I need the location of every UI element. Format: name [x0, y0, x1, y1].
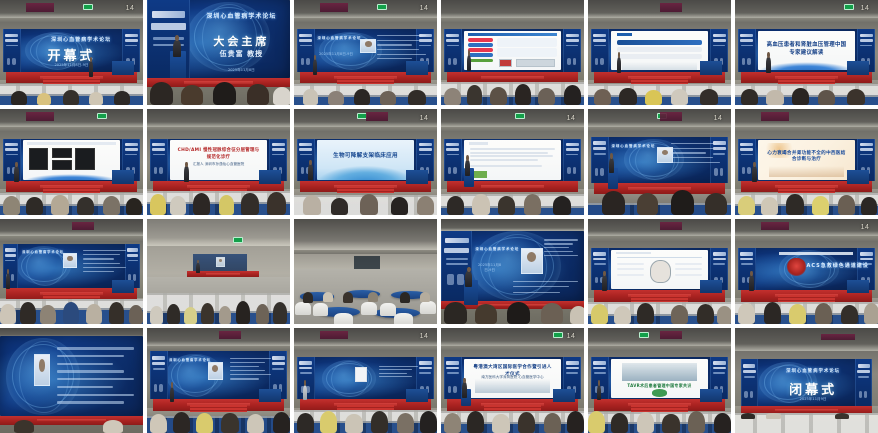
hall-sign	[660, 112, 683, 120]
hall-sign	[26, 112, 55, 120]
led-forum-title: 深圳心血管病学术论坛	[611, 143, 648, 148]
hall-number: 14	[126, 5, 135, 12]
photo-thumbnail[interactable]: 深圳心血管病学术论坛 Chairperson biography on LED …	[0, 219, 143, 324]
led-forum-title: 深圳心血管病学术论坛	[475, 246, 504, 251]
photo-thumbnail[interactable]: 14 ACS急救绿色通道建设 ACS emergency pathway sli…	[735, 219, 878, 324]
photo-thumbnail[interactable]: 目录 Agenda / contents slide	[588, 0, 731, 105]
ceiling	[0, 0, 143, 18]
presenter	[308, 164, 313, 180]
audience	[735, 71, 878, 106]
exit-sign-icon	[553, 332, 563, 338]
led-date: 2025年11月8日-9日	[22, 63, 121, 68]
photo-thumbnail[interactable]: Full-frame LED wall with speaker biograp…	[0, 328, 143, 433]
hall-number: 14	[567, 333, 576, 340]
led-side-panel-left	[3, 29, 21, 71]
photo-thumbnail[interactable]: 深圳心血管病学术论坛 大会主席 伍贵富 教授 2025年11月8日 Confer…	[147, 0, 290, 105]
audience	[294, 187, 437, 214]
hall-sign	[761, 222, 790, 230]
hall-sign	[761, 112, 790, 120]
blank-slide-panel	[355, 367, 367, 381]
speaker-portrait	[521, 248, 542, 274]
audience	[0, 71, 143, 106]
audience	[441, 65, 584, 105]
audience	[441, 183, 584, 215]
hall-sign	[219, 331, 242, 339]
photo-thumbnail[interactable]: CHD/AMI 慢性冠脉综合征分层管理与规范化诊疗 汇报人 深圳市孙逸仙心血管医…	[147, 109, 290, 214]
audience	[147, 172, 290, 214]
speaker-bio	[544, 239, 578, 274]
hall-sign	[320, 331, 349, 339]
presenter	[465, 271, 472, 287]
speaker-portrait	[360, 39, 376, 53]
presenter	[173, 40, 182, 57]
hall-sign	[320, 3, 349, 11]
exit-sign-icon	[639, 332, 649, 338]
led-forum-title: 深圳心血管病学术论坛	[169, 357, 205, 362]
speaker-portrait	[208, 362, 223, 380]
audience	[294, 393, 437, 433]
audience	[147, 399, 290, 433]
led-forum-title: 深圳心血管病学术论坛	[198, 11, 284, 20]
led-backdrop: 深圳心血管病学术论坛 闭幕式 2025年11月9日	[741, 359, 873, 405]
audience	[0, 418, 143, 433]
led-date: 2025年11月8日-9日	[317, 52, 354, 57]
exit-sign-icon	[97, 113, 107, 119]
hall-number: 14	[420, 5, 429, 12]
led-date: 2025年11月8日-9日	[475, 263, 504, 273]
hall-number: 14	[567, 115, 576, 122]
audience	[588, 395, 731, 433]
audience	[441, 301, 584, 324]
photo-thumbnail[interactable]: 14 生物可降解支架临床应用 Bioresorbable scaffold cl…	[294, 109, 437, 214]
slide-title: 生物可降解支架临床应用	[325, 152, 407, 160]
audience	[294, 71, 437, 106]
audience	[588, 71, 731, 106]
led-forum-title: 深圳心血管病学术论坛	[22, 249, 58, 254]
presentation-slide: 心脏解剖结构示意	[611, 250, 709, 289]
led-date: 2025年11月8日	[198, 68, 284, 73]
slide-title: ACS急救绿色通道建设	[807, 262, 856, 269]
photo-thumbnail[interactable]: 深圳心血管病学术论坛 闭幕式 2025年11月9日 Closing ceremo…	[735, 328, 878, 433]
led-forum-title: 深圳心血管病学术论坛	[36, 36, 127, 43]
hall-number: 14	[861, 224, 870, 231]
led-backdrop	[0, 336, 143, 416]
exit-sign-icon	[515, 113, 525, 119]
photo-thumbnail[interactable]: 14 深圳心血管病学术论坛 2025年11月8日-9日 Speaker intr…	[294, 0, 437, 105]
photo-thumbnail[interactable]: 影像学评估 Angiography images on slide	[0, 109, 143, 214]
speaker-bio	[57, 347, 134, 405]
speaker-bio	[377, 35, 426, 63]
slide-text-lines	[379, 366, 417, 388]
hall-sign	[660, 3, 683, 11]
exit-sign-icon	[83, 4, 93, 10]
hall-sign	[72, 222, 95, 230]
audience	[735, 410, 878, 433]
led-headline: 闭幕式	[772, 379, 854, 398]
speaker-portrait	[216, 257, 226, 267]
photo-thumbnail[interactable]: Round-table session, overview of hall	[294, 219, 437, 324]
hall-sign	[660, 331, 683, 339]
audience	[0, 277, 143, 323]
head-table	[406, 170, 429, 184]
photo-thumbnail[interactable]: 深圳心血管病学术论坛 2025年11月8日-9日 Speaker portrai…	[441, 219, 584, 324]
speaker-bio	[671, 143, 720, 174]
truss	[0, 18, 143, 23]
presentation-slide: TAVR术后患者管理中国专家共识	[611, 359, 709, 398]
slide-subtitle: 汇报人 深圳市孙逸仙心血管医院	[180, 162, 258, 167]
hall-number: 14	[420, 333, 429, 340]
led-forum-title: 深圳心血管病学术论坛	[317, 35, 354, 40]
photo-grid: 14 深圳心血管病学术论坛 开幕式 2025年11月8日-9日	[0, 0, 878, 433]
hall-number: 14	[861, 5, 870, 12]
presentation-slide: 心力衰竭合并肾功能不全的中西医结合诊断与治疗	[758, 140, 856, 179]
photo-thumbnail[interactable]: 14 临床研究要点 Bulleted t	[441, 109, 584, 214]
presentation-slide: 临床研究要点	[464, 140, 562, 179]
photo-thumbnail[interactable]: 14 高血压患者和肾脏血压管理中国专家建议解读 Hypertension gui…	[735, 0, 878, 105]
hall-sign	[366, 112, 389, 120]
photo-thumbnail[interactable]: 心血管疾病诊疗数据平台 Data dashboard slide present…	[441, 0, 584, 105]
photo-thumbnail[interactable]: 14 粤港澳大湾区国际医学合作暨引进人才仪式 南方医科大学深圳医院 心血管医学中…	[441, 328, 584, 433]
photo-thumbnail[interactable]: 心力衰竭合并肾功能不全的中西医结合诊断与治疗 Heart failure wit…	[735, 109, 878, 214]
photo-thumbnail[interactable]: 14 深圳心血管病学术论坛 Speaker at podium, LED por…	[588, 109, 731, 214]
presenter	[465, 160, 470, 176]
speaker-bio	[230, 358, 271, 390]
speaker-bio	[83, 250, 127, 279]
slide-title: 高血压患者和肾脏血压管理中国专家建议解读	[766, 42, 848, 58]
led-chair-name: 伍贵富 教授	[198, 49, 284, 59]
photo-thumbnail[interactable]: TAVR术后患者管理中国专家共识 TAVR post-op management…	[588, 328, 731, 433]
audience	[0, 177, 143, 215]
slide-title: TAVR术后患者管理中国专家共识	[619, 383, 701, 389]
hall-number: 14	[420, 115, 429, 122]
audience	[588, 288, 731, 324]
led-headline: 大会主席	[198, 33, 284, 49]
round-tables	[294, 273, 437, 324]
photo-thumbnail[interactable]: 深圳心血管病学术论坛 Speaker profile on LED wall, …	[147, 328, 290, 433]
presenter	[196, 263, 201, 274]
hall-sign	[660, 222, 683, 230]
led-backdrop: 深圳心血管病学术论坛 2025年11月8日-9日	[441, 231, 584, 300]
hall-sign	[821, 334, 855, 340]
speaker-bio-extra	[513, 281, 579, 296]
photo-thumbnail[interactable]: 心脏解剖结构示意 Cardiac anatomy diagram slide	[588, 219, 731, 324]
slide-title: 心力衰竭合并肾功能不全的中西医结合诊断与治疗	[766, 151, 848, 164]
projection-screen	[354, 256, 380, 269]
audience	[735, 177, 878, 215]
exit-sign-icon	[377, 4, 387, 10]
led-headline: 开幕式	[22, 45, 121, 64]
presentation-slide: 粤港澳大湾区国际医学合作暨引进人才仪式 南方医科大学深圳医院 心血管医学中心	[464, 359, 562, 398]
presentation-slide: 生物可降解支架临床应用	[317, 140, 415, 179]
presentation-slide: 高血压患者和肾脏血压管理中国专家建议解读	[758, 31, 856, 70]
led-backdrop: 深圳心血管病学术论坛 大会主席 伍贵富 教授 2025年11月8日	[147, 0, 290, 78]
led-date: 2025年11月9日	[772, 397, 854, 402]
audience	[147, 275, 290, 323]
audience	[588, 189, 731, 214]
photo-thumbnail[interactable]: Wide room view with standing audience	[147, 219, 290, 324]
photo-thumbnail[interactable]: 14 深圳心血管病学术论坛 开幕式 2025年11月8日-9日	[0, 0, 143, 105]
presentation-slide: 影像学评估	[23, 140, 121, 179]
hall-sign	[26, 3, 55, 11]
photo-thumbnail[interactable]: 14 Presentation in progress, blank white…	[294, 328, 437, 433]
exit-sign-icon	[844, 4, 854, 10]
led-backdrop	[193, 254, 247, 271]
audience	[441, 395, 584, 433]
speaker-portrait	[34, 354, 50, 386]
presenter	[609, 158, 614, 174]
hall-number: 14	[714, 115, 723, 122]
audience	[735, 286, 878, 324]
presentation-slide: 目录	[611, 31, 709, 70]
audience	[147, 82, 290, 105]
exit-sign-icon	[233, 237, 243, 243]
slide-title: CHD/AMI 慢性冠脉综合征分层管理与规范化诊疗	[178, 148, 260, 161]
speaker-portrait	[63, 253, 77, 269]
led-forum-title: 深圳心血管病学术论坛	[772, 368, 854, 374]
